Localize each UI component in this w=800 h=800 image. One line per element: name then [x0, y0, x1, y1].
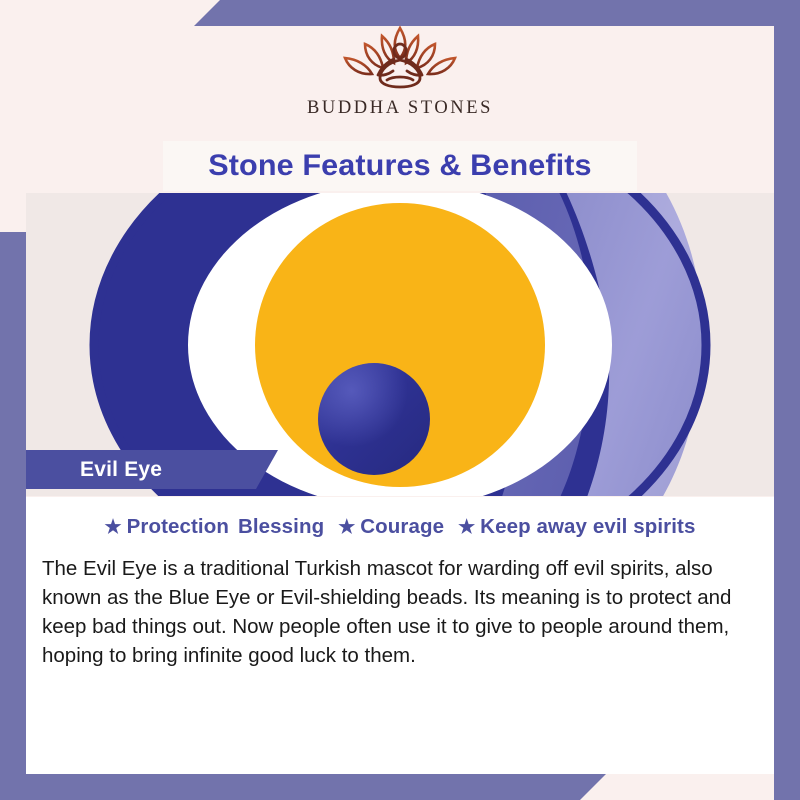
frame-band-bottom	[0, 774, 800, 800]
feature-item-keep-away-evil-spirits: ★ Keep away evil spirits	[458, 515, 695, 539]
title-banner: Stone Features & Benefits	[163, 141, 637, 191]
lotus-meditating-figure-icon	[325, 18, 475, 94]
stone-description: The Evil Eye is a traditional Turkish ma…	[36, 554, 764, 670]
feature-sublabel: Blessing	[238, 515, 324, 539]
feature-list: ★ Protection Blessing ★ Courage ★ Keep a…	[36, 515, 764, 539]
star-icon: ★	[105, 518, 122, 537]
brand-wordmark: BUDDHA STONES	[307, 98, 493, 119]
content-panel: ★ Protection Blessing ★ Courage ★ Keep a…	[26, 497, 774, 774]
feature-label: Protection	[127, 515, 229, 539]
poster-canvas: BUDDHA STONES Stone Features & Benefits	[0, 0, 800, 800]
feature-label: Keep away evil spirits	[480, 515, 695, 539]
stone-name-label: Evil Eye	[80, 458, 162, 482]
feature-item-courage: ★ Courage	[338, 515, 444, 539]
page-title: Stone Features & Benefits	[208, 149, 591, 183]
star-icon: ★	[338, 518, 355, 537]
feature-label: Courage	[360, 515, 444, 539]
star-icon: ★	[458, 518, 475, 537]
stone-name-tag: Evil Eye	[26, 450, 278, 489]
feature-item-protection: ★ Protection Blessing	[105, 515, 325, 539]
frame-band-left	[0, 232, 26, 800]
